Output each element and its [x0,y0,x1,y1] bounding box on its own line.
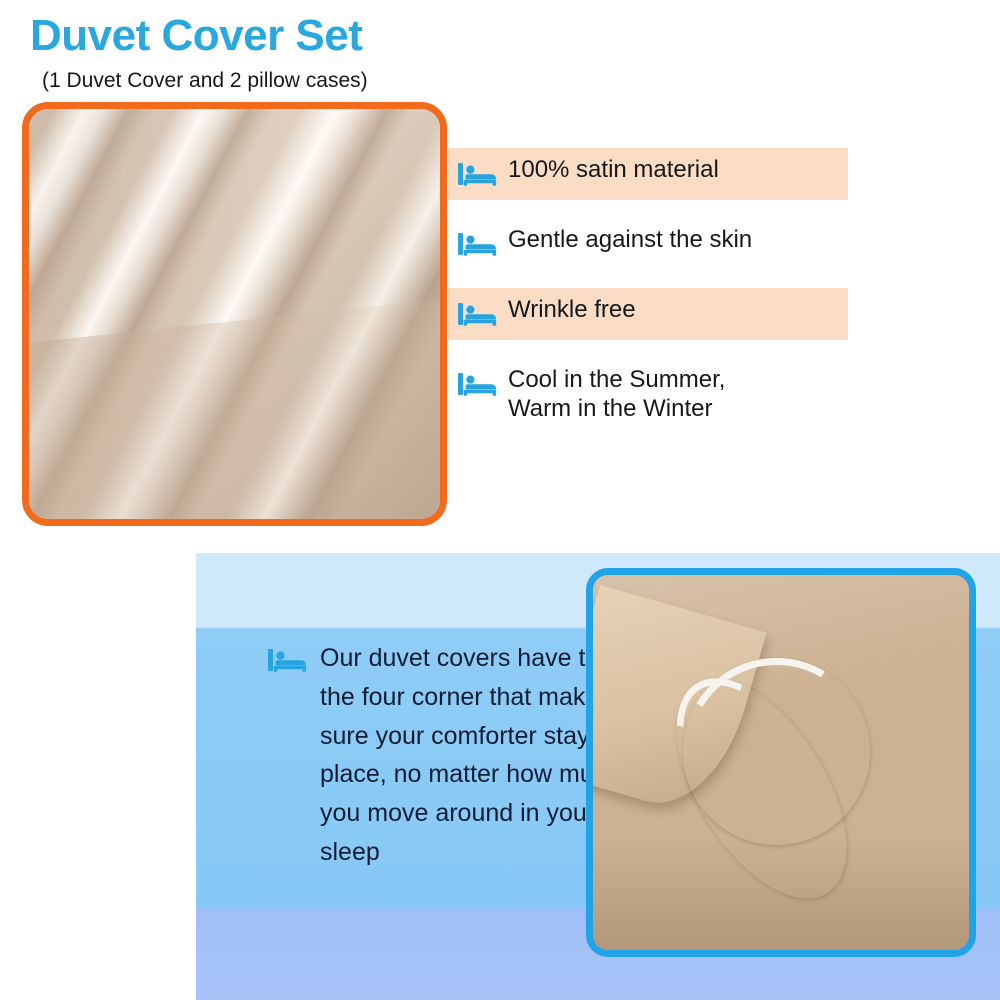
bed-icon [458,231,498,257]
feature-item-gentle-skin: Gentle against the skin [448,218,848,270]
feature-item-label: 100% satin material [508,155,719,184]
bed-icon [458,301,498,327]
page-title: Duvet Cover Set [30,14,362,58]
fabric-swatch-image [22,102,447,526]
feature-item-satin-material: 100% satin material [448,148,848,200]
tie-closeup-image [586,568,976,957]
bed-icon [268,647,308,673]
bed-icon [458,371,498,397]
feature-item-label: Wrinkle free [508,295,636,324]
bed-icon [458,161,498,187]
feature-item-wrinkle-free: Wrinkle free [448,288,848,340]
fabric-swatch-texture [29,109,440,519]
feature-item-label: Cool in the Summer, Warm in the Winter [508,365,725,424]
feature-list: 100% satin material Gentle against the s… [448,148,848,431]
feature-item-label: Gentle against the skin [508,225,752,254]
page-subtitle: (1 Duvet Cover and 2 pillow cases) [42,70,368,91]
feature-item-temperature: Cool in the Summer, Warm in the Winter [448,358,848,431]
